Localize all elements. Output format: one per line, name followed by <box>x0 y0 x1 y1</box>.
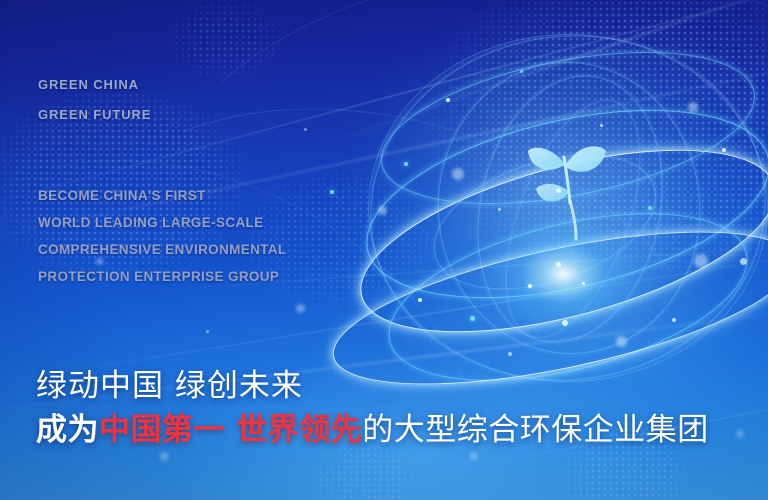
particle <box>498 208 501 211</box>
globe-halo <box>328 0 768 424</box>
wireframe-globe <box>368 34 768 382</box>
mission-line-1: BECOME CHINA'S FIRST <box>38 182 286 209</box>
particle <box>508 352 512 356</box>
headline-line-2: 成为中国第一 世界领先的大型综合环保企业集团 <box>36 408 756 452</box>
headline-line-1: 绿动中国 绿创未来 <box>36 364 756 408</box>
particle <box>520 70 523 73</box>
mission-block: BECOME CHINA'S FIRST WORLD LEADING LARGE… <box>38 182 286 290</box>
globe-sphere <box>368 34 768 382</box>
particle <box>648 206 652 210</box>
mission-line-3: COMPREHENSIVE ENVIRONMENTAL <box>38 236 286 263</box>
particle <box>672 318 676 322</box>
tagline-line-1: GREEN CHINA <box>38 70 151 100</box>
particle <box>688 102 698 112</box>
particle <box>740 258 747 265</box>
particle <box>418 298 422 302</box>
particle <box>694 254 708 268</box>
globe-ring-highlight <box>342 113 768 369</box>
particle <box>296 304 305 313</box>
tagline-block: GREEN CHINA GREEN FUTURE <box>38 70 151 130</box>
headline-highlight: 中国第一 世界领先 <box>99 412 362 448</box>
emblem-spark-2 <box>582 282 585 285</box>
particle <box>470 316 475 321</box>
particle <box>600 124 603 127</box>
map-dots-patch-bottomleft <box>300 446 450 500</box>
particle <box>452 168 464 180</box>
mission-line-4: PROTECTION ENTERPRISE GROUP <box>38 263 286 290</box>
particle <box>556 188 561 193</box>
globe-ring-meridian-b <box>428 53 710 363</box>
particle <box>446 98 450 102</box>
mission-line-2: WORLD LEADING LARGE-SCALE <box>38 209 286 236</box>
sprout-seedling <box>518 139 618 249</box>
hero-banner: GREEN CHINA GREEN FUTURE BECOME CHINA'S … <box>0 0 768 500</box>
particle <box>206 330 209 333</box>
particle <box>304 128 307 131</box>
streak-6 <box>314 0 768 149</box>
globe-ring-inner-a <box>417 129 673 314</box>
headline-block: 绿动中国 绿创未来 成为中国第一 世界领先的大型综合环保企业集团 <box>36 364 756 452</box>
emblem-spark-1 <box>556 262 561 267</box>
particle <box>470 452 478 460</box>
light-burst <box>478 214 648 334</box>
emblem-spark-3 <box>528 284 532 288</box>
globe-ring-equator <box>348 76 768 332</box>
particle <box>404 162 408 166</box>
globe-ring-meridian-c <box>479 83 668 356</box>
globe-ring-upper <box>369 25 768 231</box>
tagline-line-2: GREEN FUTURE <box>38 100 151 130</box>
headline-prefix: 成为 <box>36 412 99 448</box>
map-dots-patch-topleft <box>150 0 300 76</box>
particle <box>722 148 726 152</box>
particle <box>330 190 334 194</box>
headline-suffix: 的大型综合环保企业集团 <box>362 412 709 448</box>
particle <box>562 320 568 326</box>
map-dots-patch-topright <box>400 0 768 270</box>
particle <box>616 336 627 347</box>
globe-ring-meridian-a <box>454 58 686 360</box>
particle <box>160 452 169 461</box>
particle <box>378 206 387 215</box>
globe-ring-outline <box>348 10 768 406</box>
